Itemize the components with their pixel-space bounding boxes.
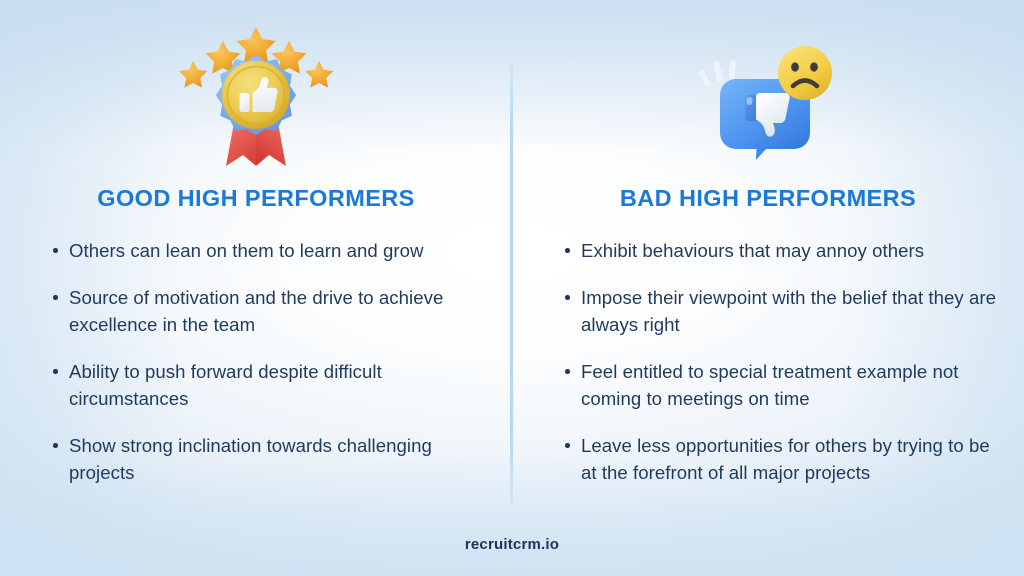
bullet-dot-icon <box>565 369 570 374</box>
list-item-text: Source of motivation and the drive to ac… <box>69 287 443 335</box>
bullet-dot-icon <box>53 369 58 374</box>
list-item-text: Ability to push forward despite difficul… <box>69 361 382 409</box>
list-item: Exhibit behaviours that may annoy others <box>564 237 1004 264</box>
award-badge-thumbs-up-icon <box>0 18 512 168</box>
bullet-dot-icon <box>53 443 58 448</box>
bullet-dot-icon <box>53 248 58 253</box>
list-item: Ability to push forward despite difficul… <box>52 358 482 412</box>
list-item: Impose their viewpoint with the belief t… <box>564 284 1004 338</box>
list-item-text: Leave less opportunities for others by t… <box>581 435 990 483</box>
slide-canvas: GOOD HIGH PERFORMERS Others can lean on … <box>0 0 1024 576</box>
list-item: Others can lean on them to learn and gro… <box>52 237 482 264</box>
list-item-text: Show strong inclination towards challeng… <box>69 435 432 483</box>
speech-bubble-thumbs-down-sad-face-icon <box>512 26 1024 176</box>
page-title-bad: BAD HIGH PERFORMERS <box>512 186 1024 212</box>
list-item-text: Feel entitled to special treatment examp… <box>581 361 958 409</box>
list-item: Leave less opportunities for others by t… <box>564 432 1004 486</box>
bullet-dot-icon <box>565 248 570 253</box>
bullet-dot-icon <box>565 443 570 448</box>
list-item: Feel entitled to special treatment examp… <box>564 358 1004 412</box>
list-item-text: Others can lean on them to learn and gro… <box>69 240 424 261</box>
column-good-high-performers: GOOD HIGH PERFORMERS Others can lean on … <box>0 0 512 576</box>
list-item-text: Impose their viewpoint with the belief t… <box>581 287 996 335</box>
list-item: Source of motivation and the drive to ac… <box>52 284 482 338</box>
bullet-dot-icon <box>53 295 58 300</box>
footer-brand: recruitcrm.io <box>0 536 1024 553</box>
list-item-text: Exhibit behaviours that may annoy others <box>581 240 924 261</box>
list-item: Show strong inclination towards challeng… <box>52 432 482 486</box>
bullet-dot-icon <box>565 295 570 300</box>
bullet-list-good: Others can lean on them to learn and gro… <box>52 237 482 486</box>
page-title-good: GOOD HIGH PERFORMERS <box>0 186 512 212</box>
bullet-list-bad: Exhibit behaviours that may annoy others… <box>564 237 1004 486</box>
